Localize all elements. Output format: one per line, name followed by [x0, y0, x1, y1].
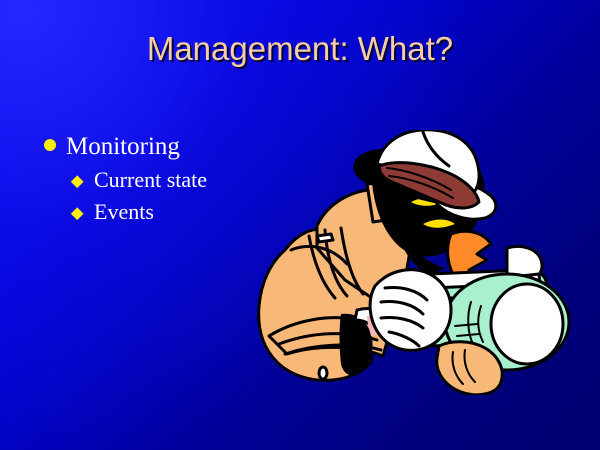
page-title: Management: What? [0, 30, 600, 68]
list-item-label: Current state [94, 167, 207, 193]
list-item-label: Monitoring [66, 133, 180, 161]
list-item-label: Events [94, 199, 154, 225]
coat-button [319, 367, 327, 379]
presentation-slide: Management: What? Monitoring Current sta… [0, 0, 600, 450]
detective-camera-graphic [255, 130, 575, 395]
diamond-bullet-icon [71, 207, 84, 220]
diamond-bullet-icon [71, 175, 84, 188]
circle-bullet-icon [44, 139, 56, 151]
camera-lens-front [491, 284, 563, 364]
detective-with-camera-illustration [255, 130, 575, 395]
coat-collar-tab [317, 234, 333, 242]
